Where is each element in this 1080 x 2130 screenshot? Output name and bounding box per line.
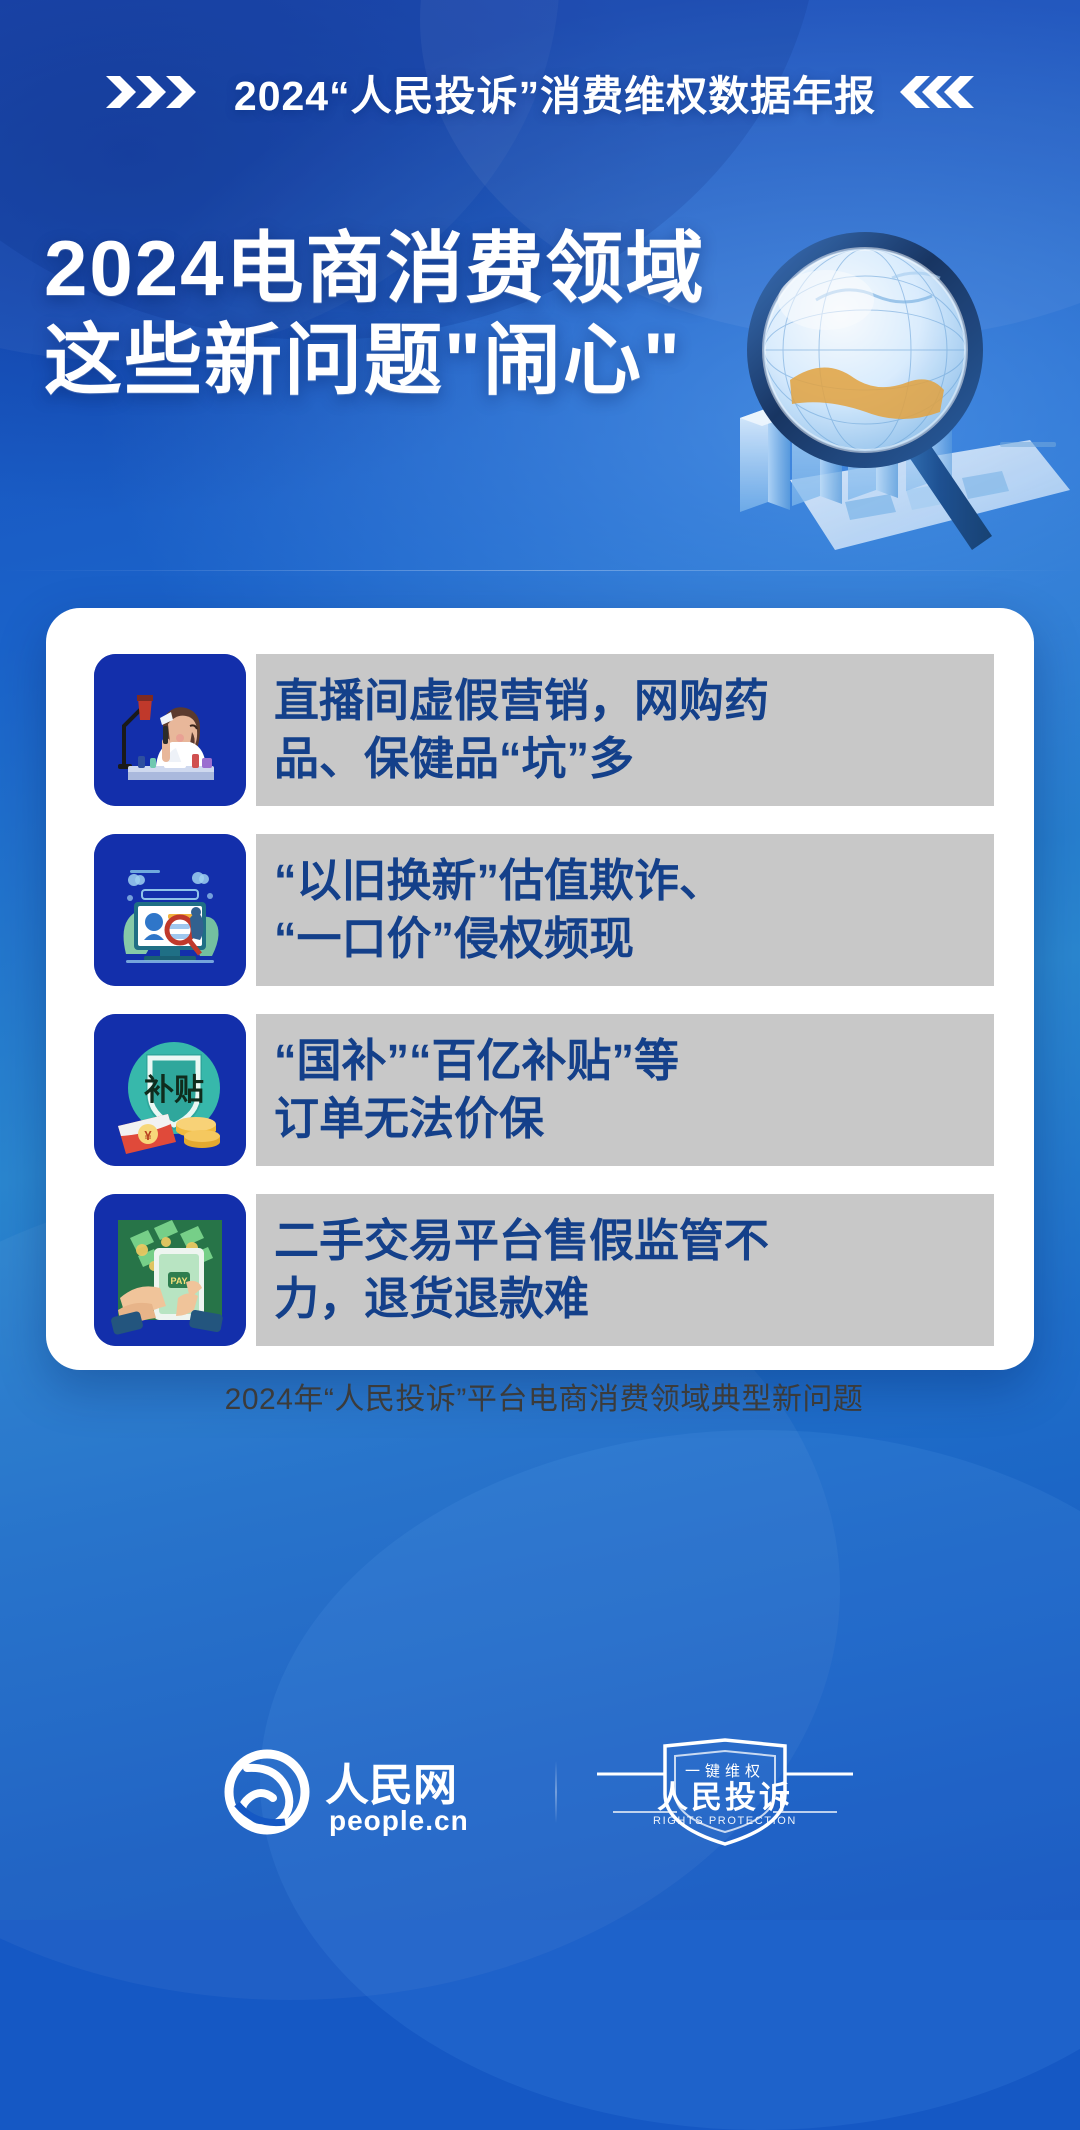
list-item-text: 二手交易平台售假监管不 力，退货退款难 <box>256 1194 994 1346</box>
subsidy-shield-coins-icon: 补贴 ¥ <box>94 1014 246 1166</box>
list-item[interactable]: PAY 二手交易平台售假监管不 力，退货退款难 <box>94 1194 994 1346</box>
list-item[interactable]: 补贴 ¥ “国补”“百亿补贴”等 订单无法价保 <box>94 1014 994 1166</box>
livestream-woman-icon <box>94 654 246 806</box>
list-item-text: “以旧换新”估值欺诈、 “一口价”侵权频现 <box>256 834 994 986</box>
hero-title: 2024电商消费领域 这些新问题"闹心" <box>44 222 706 406</box>
svg-text:PAY: PAY <box>170 1276 187 1286</box>
monitor-profile-magnifier-icon <box>94 834 246 986</box>
list-item-text: 直播间虚假营销，网购药 品、保健品“坑”多 <box>256 654 994 806</box>
people-logo-cn-text: 人民网 <box>325 1761 457 1810</box>
rights-protection-shield-icon[interactable]: 一键维权 人民投诉 RIGHTS PROTECTION <box>591 1736 859 1848</box>
list-item-line-1: 直播间虚假营销，网购药 <box>274 672 769 731</box>
list-item-text: “国补”“百亿补贴”等 订单无法价保 <box>256 1014 994 1166</box>
list-item-line-2: 品、保健品“坑”多 <box>274 730 769 789</box>
hero-title-line-1: 2024电商消费领域 <box>44 222 706 314</box>
hero-title-line-2: 这些新问题"闹心" <box>44 314 706 406</box>
badge-main-text: 人民投诉 <box>657 1780 793 1815</box>
page-title: 2024“人民投诉”消费维权数据年报 <box>234 62 876 122</box>
background-divider-line <box>0 570 1080 571</box>
content-card: 直播间虚假营销，网购药 品、保健品“坑”多 <box>46 608 1034 1370</box>
list-item-line-2: 力，退货退款难 <box>274 1270 769 1329</box>
list-item-line-1: 二手交易平台售假监管不 <box>274 1212 769 1271</box>
people-cn-logo-icon[interactable]: 人民网 people.cn <box>221 1746 521 1838</box>
secondhand-phone-money-icon: PAY <box>94 1194 246 1346</box>
list-item-line-1: “以旧换新”估值欺诈、 <box>274 852 724 911</box>
list-item-line-2: “一口价”侵权频现 <box>274 910 724 969</box>
svg-text:¥: ¥ <box>144 1128 152 1143</box>
list-item-line-1: “国补”“百亿补贴”等 <box>274 1032 679 1091</box>
chevrons-right-icon <box>104 72 212 112</box>
subsidy-shield-label: 补贴 <box>144 1074 204 1107</box>
card-caption: 2024年“人民投诉”平台电商消费领域典型新问题 <box>94 1374 994 1418</box>
list-item[interactable]: “以旧换新”估值欺诈、 “一口价”侵权频现 <box>94 834 994 986</box>
badge-bottom-text: RIGHTS PROTECTION <box>653 1815 797 1827</box>
chevrons-left-icon <box>898 72 976 112</box>
page-footer: 人民网 people.cn 一键维权 人民投诉 RIGHTS PROTECTIO… <box>0 1736 1080 1848</box>
list-item-line-2: 订单无法价保 <box>274 1090 679 1149</box>
page-header: 2024“人民投诉”消费维权数据年报 <box>0 62 1080 122</box>
footer-divider <box>555 1761 557 1823</box>
badge-top-text: 一键维权 <box>685 1763 765 1780</box>
people-logo-en-text: people.cn <box>329 1805 469 1836</box>
list-item[interactable]: 直播间虚假营销，网购药 品、保健品“坑”多 <box>94 654 994 806</box>
